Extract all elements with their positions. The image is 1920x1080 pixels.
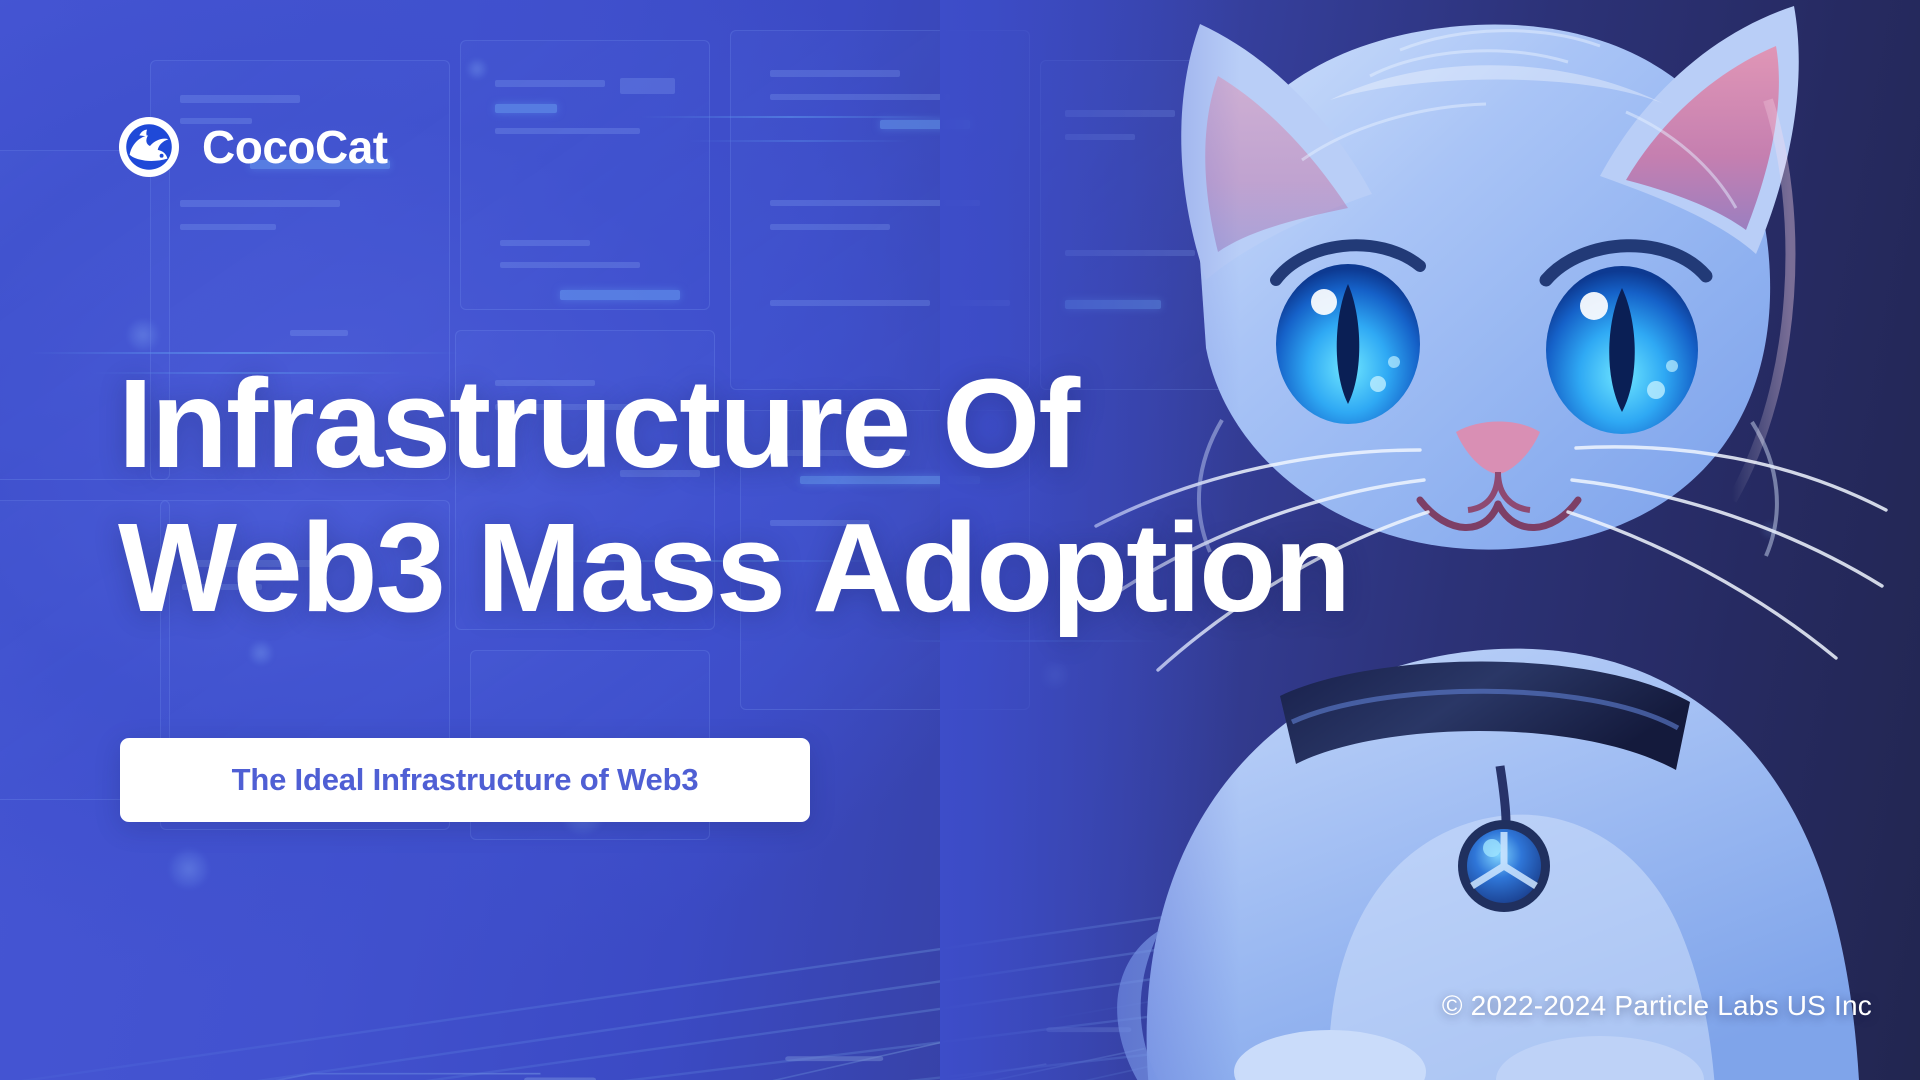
copyright-text: © 2022-2024 Particle Labs US Inc: [1442, 990, 1872, 1022]
cococat-logo-icon: [118, 116, 180, 178]
hero-content: CocoCat Infrastructure Of Web3 Mass Adop…: [0, 0, 1920, 1080]
page-title: Infrastructure Of Web3 Mass Adoption: [118, 352, 1418, 639]
cta-button-label: The Ideal Infrastructure of Web3: [232, 762, 699, 798]
hero-banner: CocoCat Infrastructure Of Web3 Mass Adop…: [0, 0, 1920, 1080]
cta-button[interactable]: The Ideal Infrastructure of Web3: [120, 738, 810, 822]
brand-name: CocoCat: [202, 124, 388, 170]
headline-line-1: Infrastructure Of: [118, 352, 1418, 496]
brand-lockup[interactable]: CocoCat: [118, 116, 388, 178]
headline-line-2: Web3 Mass Adoption: [118, 496, 1418, 640]
